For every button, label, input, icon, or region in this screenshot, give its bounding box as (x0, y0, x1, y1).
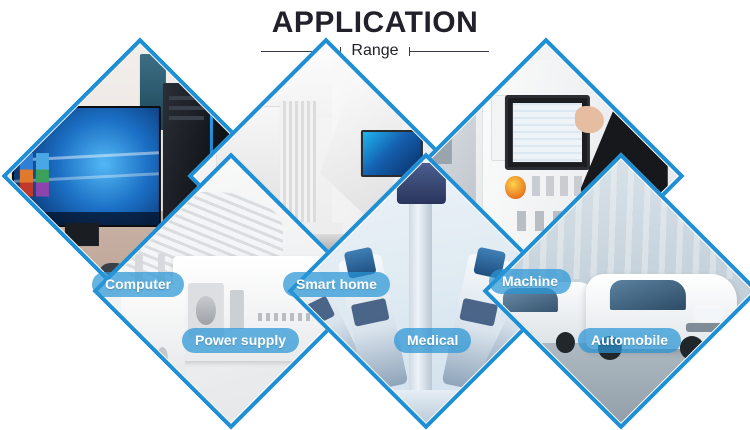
label-power-supply[interactable]: Power supply (182, 328, 299, 353)
page-subtitle: Range (341, 41, 408, 61)
page-title: APPLICATION (0, 6, 750, 40)
label-automobile[interactable]: Automobile (578, 328, 681, 353)
application-range-grid: Computer Smart home (0, 62, 750, 414)
page-header: APPLICATION Range (0, 0, 750, 70)
label-computer[interactable]: Computer (92, 272, 184, 297)
subtitle-row: Range (0, 40, 750, 62)
rule-right (409, 51, 489, 52)
label-smart-home[interactable]: Smart home (283, 272, 390, 297)
label-medical[interactable]: Medical (394, 328, 471, 353)
label-machine[interactable]: Machine (489, 269, 571, 294)
